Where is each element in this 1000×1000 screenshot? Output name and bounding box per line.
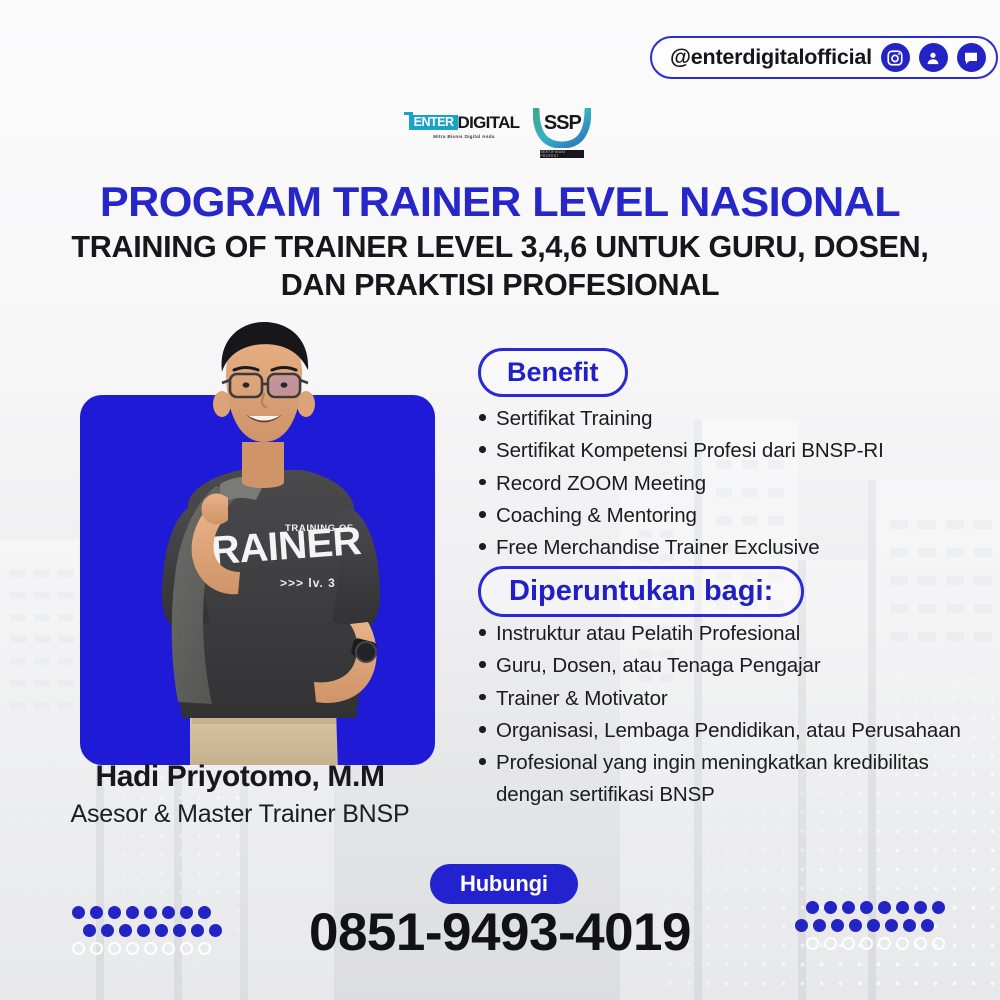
facebook-person-icon[interactable] <box>919 43 948 72</box>
list-item: Trainer & Motivator <box>496 683 996 714</box>
contact-cta-badge[interactable]: Hubungi <box>430 864 578 904</box>
speaker-photo: TRAINING OF TRAINER >>> lv. 3 <box>70 310 460 770</box>
list-item: Organisasi, Lembaga Pendidikan, atau Per… <box>496 715 996 746</box>
page-subtitle: TRAINING OF TRAINER LEVEL 3,4,6 UNTUK GU… <box>60 228 940 304</box>
social-handle-text: @enterdigitalofficial <box>670 45 872 70</box>
target-list: Instruktur atau Pelatih Profesional Guru… <box>470 618 996 811</box>
list-item: Profesional yang ingin meningkatkan kred… <box>496 747 996 810</box>
benefit-list: Sertifikat Training Sertifikat Kompetens… <box>470 403 996 565</box>
enter-digital-logo: ENTER DIGITAL Mitra Bisnis Digital Anda <box>409 114 520 139</box>
list-item: Sertifikat Kompetensi Profesi dari BNSP-… <box>496 435 996 466</box>
ssp-logo-bar: SERTIFIKASI PROFESI <box>540 150 584 158</box>
ssp-logo-text: SSP <box>533 112 591 135</box>
list-item: Record ZOOM Meeting <box>496 468 996 499</box>
instagram-icon[interactable] <box>881 43 910 72</box>
social-handle-badge[interactable]: @enterdigitalofficial <box>650 36 998 79</box>
enter-digital-word: DIGITAL <box>458 114 520 131</box>
speaker-role: Asesor & Master Trainer BNSP <box>0 800 480 829</box>
list-item: Guru, Dosen, atau Tenaga Pengajar <box>496 650 996 681</box>
list-item: Sertifikat Training <box>496 403 996 434</box>
message-bubble-icon[interactable] <box>957 43 986 72</box>
list-item: Coaching & Mentoring <box>496 500 996 531</box>
dot-pattern-left <box>72 906 222 955</box>
enter-digital-mark: ENTER <box>409 115 458 130</box>
target-label-pill: Diperuntukan bagi: <box>478 566 804 617</box>
list-item: Free Merchandise Trainer Exclusive <box>496 532 996 563</box>
list-item: Instruktur atau Pelatih Profesional <box>496 618 996 649</box>
dot-pattern-right <box>795 901 945 950</box>
enter-digital-tagline: Mitra Bisnis Digital Anda <box>433 134 494 139</box>
benefit-label-pill: Benefit <box>478 348 628 397</box>
svg-text:>>> lv. 3: >>> lv. 3 <box>280 576 336 590</box>
poster-canvas: @enterdigitalofficial ENTER DIGITAL Mitr… <box>0 0 1000 1000</box>
ssp-bar-text: SERTIFIKASI PROFESI <box>540 150 584 158</box>
partner-logos: ENTER DIGITAL Mitra Bisnis Digital Anda … <box>0 108 1000 158</box>
page-title: PROGRAM TRAINER LEVEL NASIONAL <box>0 178 1000 226</box>
speaker-name: Hadi Priyotomo, M.M <box>0 760 480 794</box>
ssp-logo: SSP SERTIFIKASI PROFESI <box>533 108 591 158</box>
speaker-portrait-illustration: TRAINING OF TRAINER >>> lv. 3 <box>70 310 460 770</box>
